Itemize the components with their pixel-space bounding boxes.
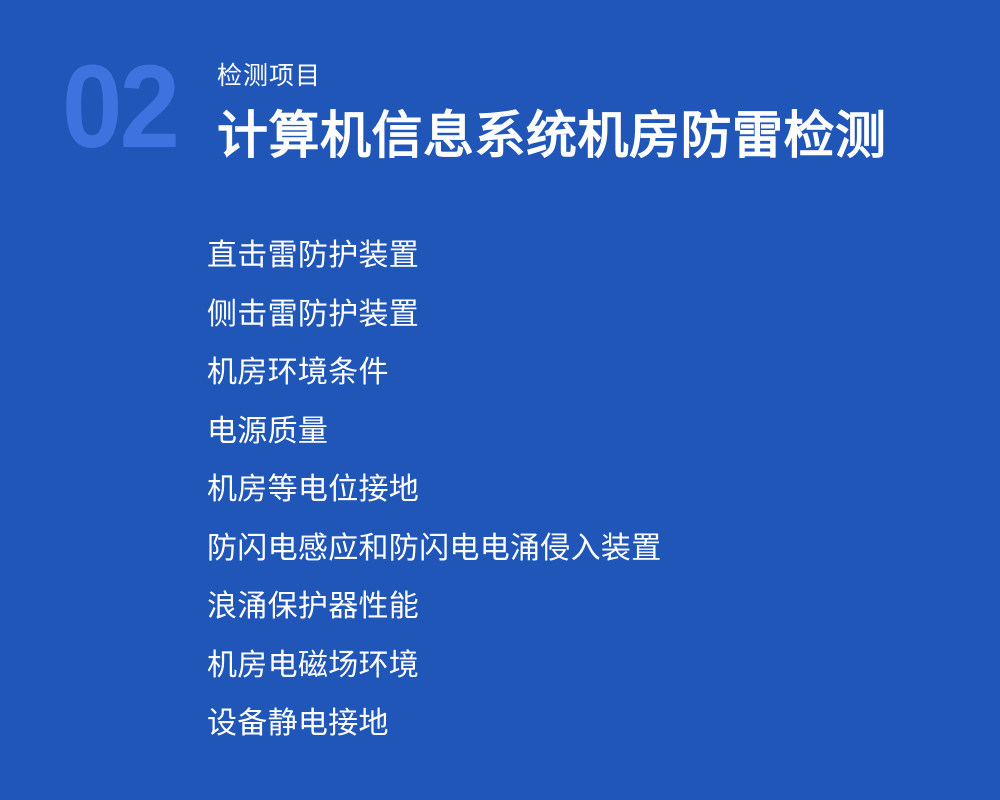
slide-root: 02 检测项目 计算机信息系统机房防雷检测 直击雷防护装置 侧击雷防护装置 机房…	[0, 0, 1000, 800]
list-item: 设备静电接地	[207, 695, 967, 754]
list-item: 机房环境条件	[207, 344, 967, 403]
slide-header: 02 检测项目 计算机信息系统机房防雷检测	[0, 0, 1000, 200]
section-eyebrow: 检测项目	[217, 58, 957, 94]
list-item: 直击雷防护装置	[207, 227, 967, 286]
section-number: 02	[62, 48, 177, 166]
header-text-block: 检测项目 计算机信息系统机房防雷检测	[217, 58, 957, 166]
inspection-item-list: 直击雷防护装置 侧击雷防护装置 机房环境条件 电源质量 机房等电位接地 防闪电感…	[207, 227, 967, 754]
page-title: 计算机信息系统机房防雷检测	[217, 106, 957, 166]
list-item: 电源质量	[207, 403, 967, 462]
list-item: 浪涌保护器性能	[207, 578, 967, 637]
list-item: 防闪电感应和防闪电电涌侵入装置	[207, 520, 967, 579]
list-item: 机房等电位接地	[207, 461, 967, 520]
list-item: 机房电磁场环境	[207, 637, 967, 696]
list-item: 侧击雷防护装置	[207, 286, 967, 345]
